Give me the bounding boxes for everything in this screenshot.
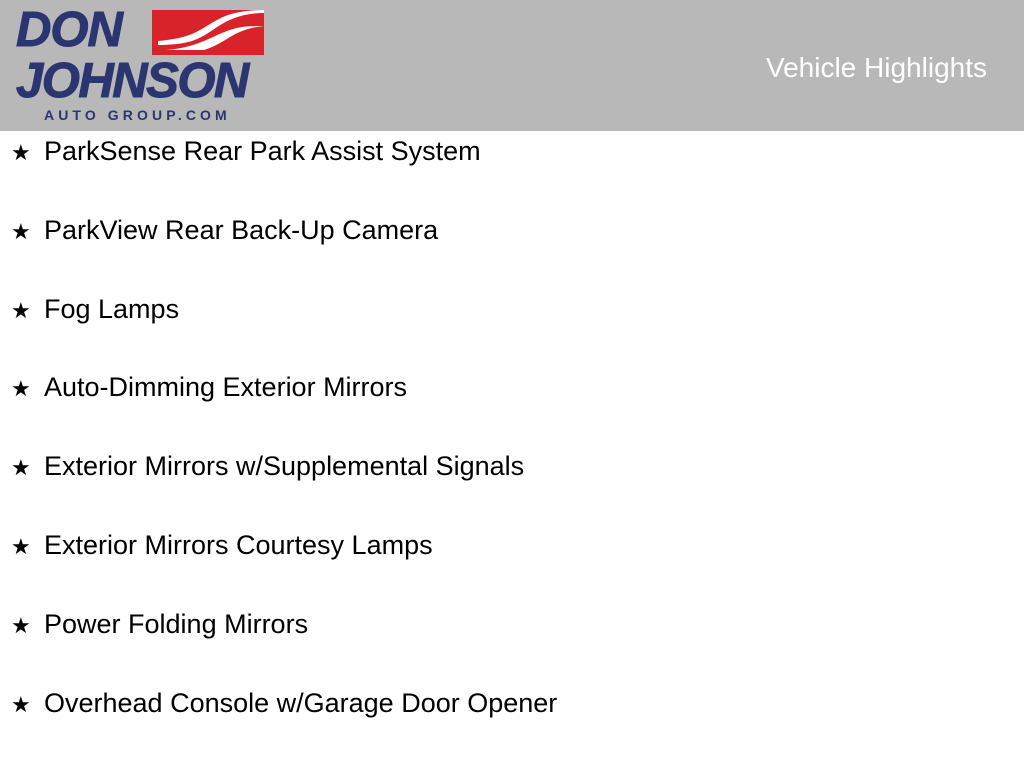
list-item-label: Power Folding Mirrors bbox=[44, 604, 308, 645]
logo-text-don: DON bbox=[16, 4, 122, 56]
star-icon: ★ bbox=[11, 448, 44, 489]
list-item-label: ParkSense Rear Park Assist System bbox=[44, 131, 481, 172]
list-item: ★ Exterior Mirrors w/Supplemental Signal… bbox=[0, 446, 1024, 525]
list-item-label: Exterior Mirrors w/Supplemental Signals bbox=[44, 446, 524, 487]
list-item: ★ Overhead Console w/Garage Door Opener bbox=[0, 683, 1024, 762]
star-icon: ★ bbox=[11, 606, 44, 647]
swoosh-icon bbox=[152, 10, 264, 55]
list-item: ★ Exterior Mirrors Courtesy Lamps bbox=[0, 525, 1024, 604]
logo-red-badge bbox=[152, 10, 264, 55]
star-icon: ★ bbox=[11, 212, 44, 253]
list-item: ★ ParkSense Rear Park Assist System bbox=[0, 131, 1024, 210]
vehicle-highlights-list: ★ ParkSense Rear Park Assist System ★ Pa… bbox=[0, 131, 1024, 761]
list-item-label: ParkView Rear Back-Up Camera bbox=[44, 210, 438, 251]
list-item-label: Fog Lamps bbox=[44, 289, 179, 330]
logo-text-johnson: JOHNSON bbox=[16, 53, 248, 109]
list-item: ★ Fog Lamps bbox=[0, 289, 1024, 368]
page-header: DON JOHNSON AUTO GROUP.COM Vehicle Highl… bbox=[0, 0, 1024, 131]
page-title: Vehicle Highlights bbox=[766, 51, 987, 85]
star-icon: ★ bbox=[11, 291, 44, 332]
star-icon: ★ bbox=[11, 133, 44, 174]
list-item: ★ Power Folding Mirrors bbox=[0, 604, 1024, 683]
list-item: ★ ParkView Rear Back-Up Camera bbox=[0, 210, 1024, 289]
dealership-logo[interactable]: DON JOHNSON AUTO GROUP.COM bbox=[16, 6, 264, 128]
logo-top-row: DON bbox=[16, 6, 264, 58]
list-item-label: Auto-Dimming Exterior Mirrors bbox=[44, 367, 407, 408]
list-item: ★ Auto-Dimming Exterior Mirrors bbox=[0, 367, 1024, 446]
list-item-label: Exterior Mirrors Courtesy Lamps bbox=[44, 525, 433, 566]
vehicle-highlights-page: DON JOHNSON AUTO GROUP.COM Vehicle Highl… bbox=[0, 0, 1024, 768]
star-icon: ★ bbox=[11, 685, 44, 726]
star-icon: ★ bbox=[11, 527, 44, 568]
star-icon: ★ bbox=[11, 369, 44, 410]
logo-tagline: AUTO GROUP.COM bbox=[44, 107, 231, 123]
list-item-label: Overhead Console w/Garage Door Opener bbox=[44, 683, 557, 724]
